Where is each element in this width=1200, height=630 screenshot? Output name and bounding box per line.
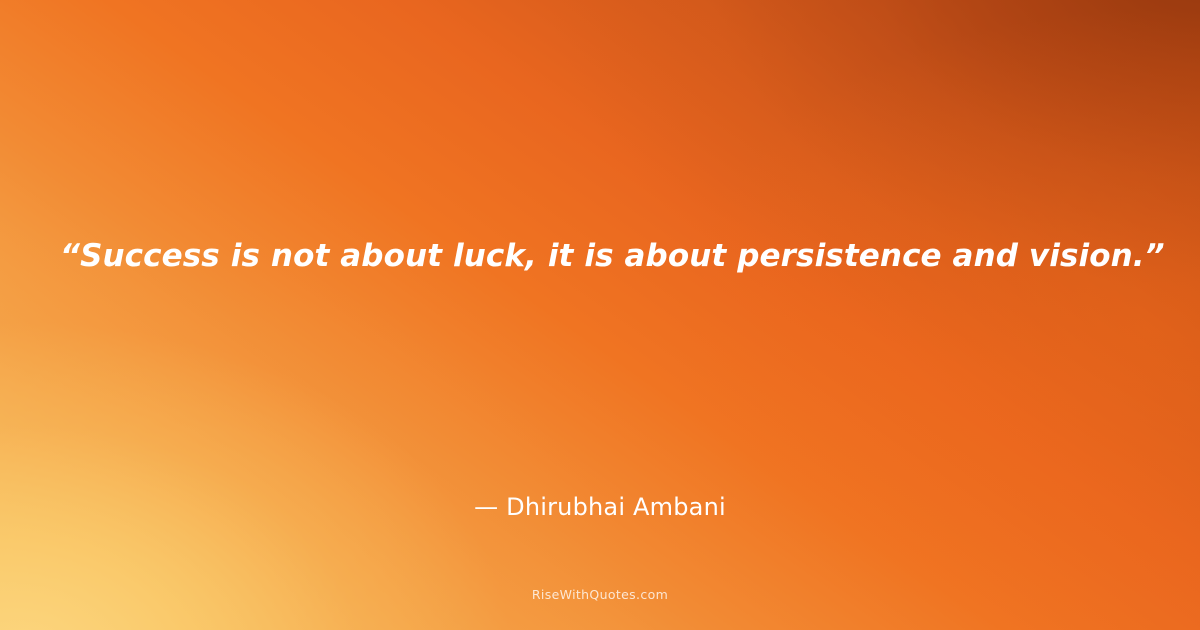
poster-content: “Success is not about luck, it is about … (0, 0, 1200, 630)
quote-text: “Success is not about luck, it is about … (60, 236, 1165, 277)
attribution-block: — Dhirubhai Ambani (0, 492, 1200, 522)
quote-poster: “Success is not about luck, it is about … (0, 0, 1200, 630)
site-watermark: RiseWithQuotes.com (532, 587, 668, 602)
footer-block: RiseWithQuotes.com (0, 584, 1200, 603)
quote-block: “Success is not about luck, it is about … (0, 236, 1200, 277)
quote-author: — Dhirubhai Ambani (474, 492, 726, 522)
